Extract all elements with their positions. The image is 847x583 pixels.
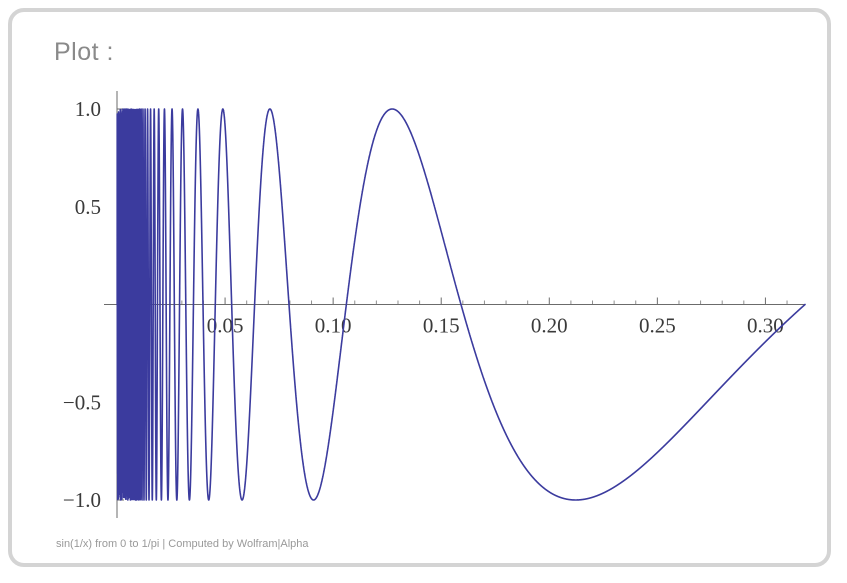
plot-figure: 1.00.5−0.5−1.0 0.050.100.150.200.250.30 <box>12 12 827 563</box>
x-tick-labels-group: 0.050.100.150.200.250.30 <box>207 314 784 338</box>
x-major-ticks-group <box>225 298 765 305</box>
x-tick-label: 0.10 <box>315 314 352 338</box>
y-tick-label: −0.5 <box>63 390 101 414</box>
y-tick-label: −1.0 <box>63 488 101 512</box>
x-minor-ticks-group <box>139 301 787 305</box>
x-tick-label: 0.15 <box>423 314 460 338</box>
plot-pod-card: Plot : 1.00.5−0.5−1.0 0.050.100.150.200.… <box>8 8 831 567</box>
x-tick-label: 0.05 <box>207 314 244 338</box>
y-tick-label: 1.0 <box>75 97 101 121</box>
y-tick-label: 0.5 <box>75 195 101 219</box>
pod-footer-text: sin(1/x) from 0 to 1/pi | Computed by Wo… <box>56 538 309 550</box>
x-tick-label: 0.25 <box>639 314 676 338</box>
x-tick-label: 0.20 <box>531 314 568 338</box>
x-tick-label: 0.30 <box>747 314 784 338</box>
y-tick-labels-group: 1.00.5−0.5−1.0 <box>63 97 101 512</box>
